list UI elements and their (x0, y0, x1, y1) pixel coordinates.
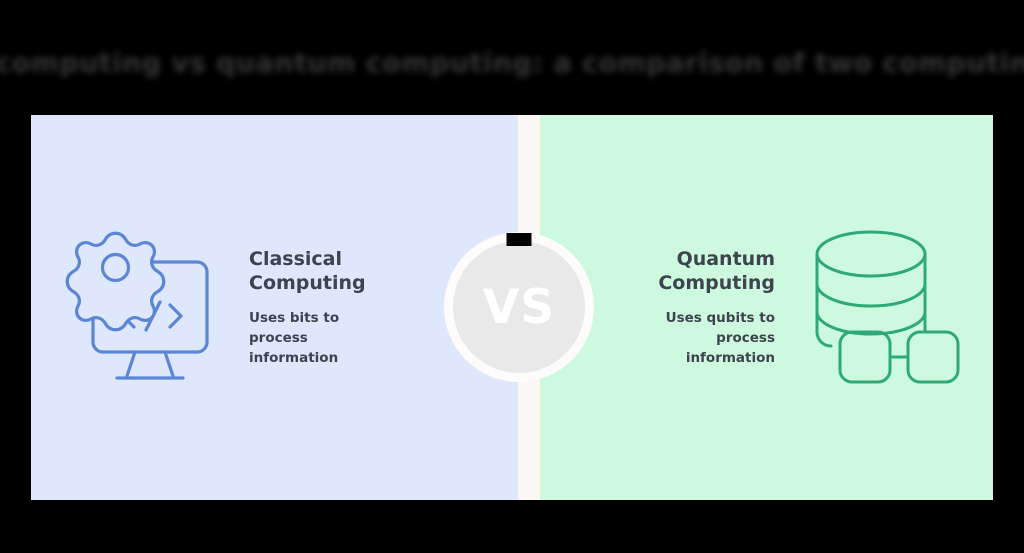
vs-label: VS (483, 280, 555, 335)
quantum-heading: Quantum Computing (625, 247, 775, 296)
classical-text-block: Classical Computing Uses bits to process… (249, 247, 399, 368)
quantum-text-block: Quantum Computing Uses qubits to process… (625, 247, 775, 368)
letterbox-left (0, 110, 31, 500)
monitor-code-gear-icon (55, 220, 231, 396)
quantum-body-text: Uses qubits to process information (625, 309, 775, 368)
classical-body-text: Uses bits to process information (249, 309, 399, 368)
letterbox-bottom (0, 500, 1024, 553)
title-bar: classical computing vs quantum computing… (0, 0, 1024, 110)
panel-quantum-computing[interactable]: Quantum Computing Uses qubits to process… (540, 115, 993, 500)
classical-heading: Classical Computing (249, 247, 399, 296)
vs-redaction-mark (507, 233, 532, 246)
vs-badge: VS (444, 232, 594, 382)
page-title: classical computing vs quantum computing… (0, 48, 1024, 79)
letterbox-right (993, 110, 1024, 500)
database-qubit-nodes-icon (793, 220, 969, 396)
